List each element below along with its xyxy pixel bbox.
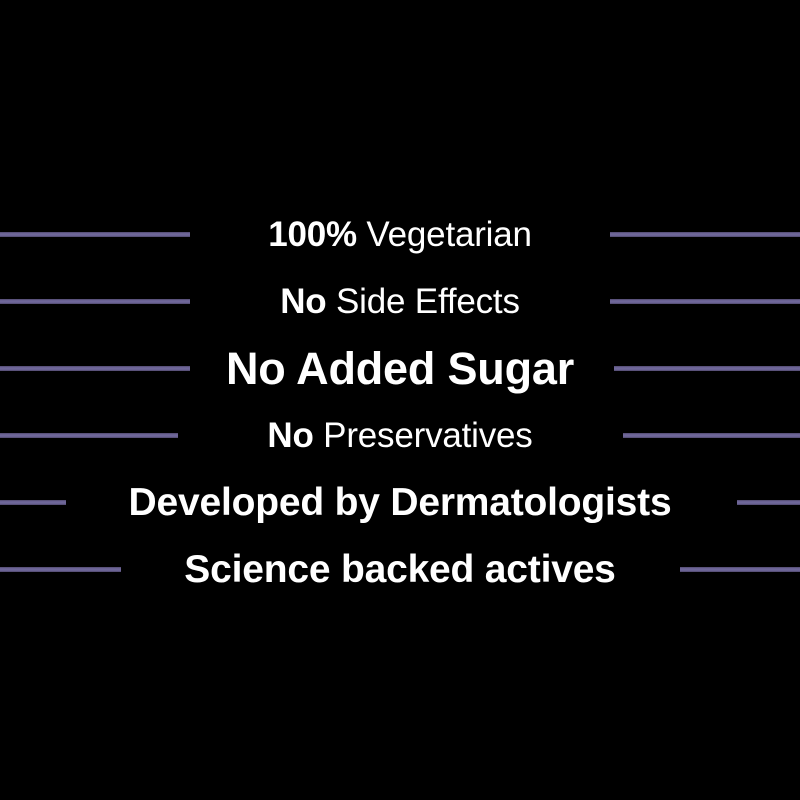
claim-row-developed-by-dermatologists: Developed by Dermatologists: [0, 483, 800, 522]
claim-text-no-side-effects: No Side Effects: [280, 284, 520, 319]
claim-row-science-backed-actives: Science backed actives: [0, 550, 800, 589]
claim-row-vegetarian: 100% Vegetarian: [0, 217, 800, 252]
claim-row-no-side-effects: No Side Effects: [0, 284, 800, 319]
claim-remainder-vegetarian: Vegetarian: [357, 215, 532, 254]
claim-remainder-no-side-effects: Side Effects: [327, 282, 520, 321]
claim-text-no-added-sugar: No Added Sugar: [226, 346, 574, 391]
claim-remainder-no-preservatives: Preservatives: [314, 416, 533, 455]
claim-emphasis-no-preservatives: No: [267, 416, 313, 455]
claim-text-developed-by-dermatologists: Developed by Dermatologists: [129, 483, 672, 522]
claim-row-no-added-sugar: No Added Sugar: [0, 346, 800, 391]
claim-row-no-preservatives: No Preservatives: [0, 418, 800, 453]
claim-emphasis-no-added-sugar: No Added Sugar: [226, 343, 574, 394]
claim-emphasis-developed-by-dermatologists: Developed by Dermatologists: [129, 481, 672, 524]
claim-emphasis-science-backed-actives: Science backed actives: [184, 548, 615, 591]
claim-text-no-preservatives: No Preservatives: [267, 418, 532, 453]
claim-emphasis-no-side-effects: No: [280, 282, 326, 321]
claims-canvas: 100% VegetarianNo Side EffectsNo Added S…: [0, 0, 800, 800]
claim-text-vegetarian: 100% Vegetarian: [268, 217, 532, 252]
claim-emphasis-vegetarian: 100%: [268, 215, 357, 254]
claim-text-science-backed-actives: Science backed actives: [184, 550, 615, 589]
